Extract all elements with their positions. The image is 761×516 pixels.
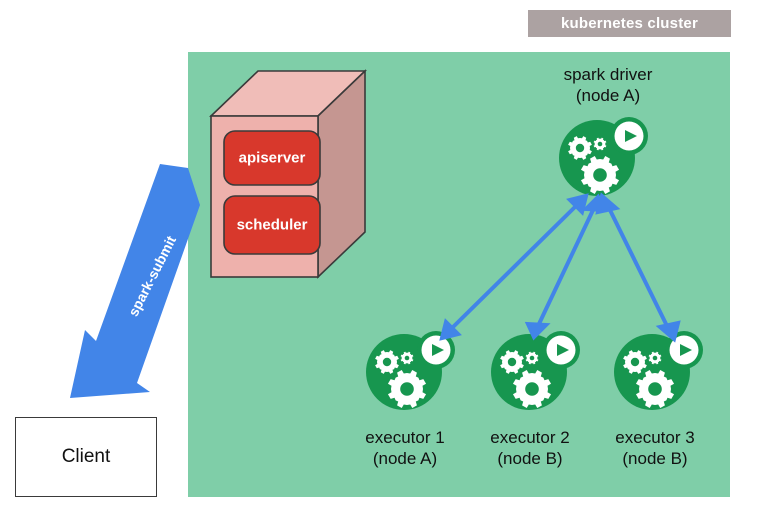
spark-submit-arrow xyxy=(70,164,200,398)
executor-node-3 xyxy=(614,331,703,410)
scheduler-chip-label-wrap: scheduler xyxy=(224,196,320,254)
apiserver-label: apiserver xyxy=(224,150,320,167)
spark-driver-node xyxy=(559,117,648,196)
diagram-canvas: kubernetes cluster Client xyxy=(0,0,761,516)
executor-node-2 xyxy=(491,331,580,410)
executor-2-label: executor 2 (node B) xyxy=(470,427,590,469)
apiserver-chip-label-wrap: apiserver xyxy=(224,131,320,185)
executor-node-1 xyxy=(366,331,455,410)
executor-3-label: executor 3 (node B) xyxy=(595,427,715,469)
scheduler-label: scheduler xyxy=(224,217,320,234)
driver-executor-links xyxy=(442,196,678,339)
spark-driver-label: spark driver (node A) xyxy=(528,64,688,106)
executor-1-label: executor 1 (node A) xyxy=(345,427,465,469)
